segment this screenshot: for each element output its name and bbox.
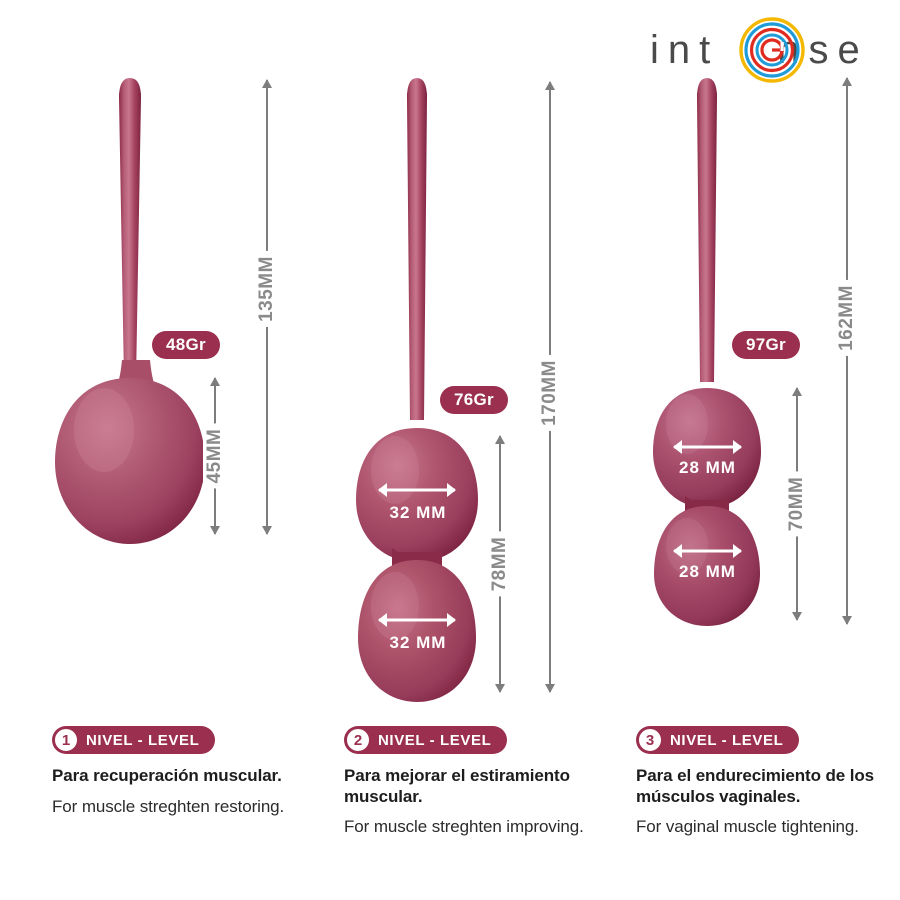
dimension-label-ball-height-level-1: 45MM: [203, 424, 227, 489]
product-column-level-1: 48Gr 45MM 135MM: [0, 0, 300, 720]
level-block-3: 3 NIVEL - LEVEL Para el endurecimiento d…: [636, 726, 900, 838]
dimension-total-length-level-3: 162MM: [832, 78, 862, 624]
arrow-cap-up: [842, 77, 852, 86]
dimension-label-ball-height-level-2: 78MM: [488, 532, 512, 597]
inner-width-label-upper-level-3: 28 MM: [650, 458, 765, 478]
arrow-cap-down: [495, 684, 505, 693]
weight-badge-level-2: 76Gr: [440, 386, 508, 414]
dimension-label-wrap: 45MM: [203, 424, 227, 489]
dimension-total-length-level-2: 170MM: [535, 82, 565, 692]
dimension-label-wrap: 135MM: [255, 251, 279, 327]
weight-badge-level-3: 97Gr: [732, 331, 800, 359]
weight-badge-level-1: 48Gr: [152, 331, 220, 359]
dimension-label-wrap: 162MM: [835, 280, 859, 356]
dimension-label-total-length-level-3: 162MM: [835, 280, 859, 356]
level-block-2: 2 NIVEL - LEVEL Para mejorar el estirami…: [344, 726, 624, 838]
level-number-2: 2: [345, 727, 371, 753]
level-badge-3[interactable]: 3 NIVEL - LEVEL: [636, 726, 799, 754]
arrow-cap-up: [210, 377, 220, 386]
arrow-cap-down: [545, 684, 555, 693]
arrow-cap-up: [262, 79, 272, 88]
arrow-cap-down: [842, 616, 852, 625]
dimension-ball-height-level-2: 78MM: [485, 436, 515, 692]
level-block-1: 1 NIVEL - LEVEL Para recuperación muscul…: [52, 726, 332, 817]
level-number-1: 1: [53, 727, 79, 753]
dimension-label-ball-height-level-3: 70MM: [785, 472, 809, 537]
inner-width-label-lower-level-3: 28 MM: [650, 562, 765, 582]
dimension-ball-height-level-3: 70MM: [782, 388, 812, 620]
dimension-label-total-length-level-2: 170MM: [538, 355, 562, 431]
level-title-en-3: For vaginal muscle tightening.: [636, 816, 900, 837]
arrow-cap-down: [262, 526, 272, 535]
level-title-es-1: Para recuperación muscular.: [52, 766, 332, 787]
level-title-es-2: Para mejorar el estiramiento muscular.: [344, 766, 624, 807]
arrow-cap-down: [210, 526, 220, 535]
level-number-3: 3: [637, 727, 663, 753]
arrow-cap-down: [792, 612, 802, 621]
arrow-cap-up: [792, 387, 802, 396]
level-title-en-2: For muscle streghten improving.: [344, 816, 624, 837]
inner-width-label-upper-level-2: 32 MM: [356, 503, 480, 523]
arrow-cap-up: [495, 435, 505, 444]
level-pill-label-2: NIVEL - LEVEL: [378, 732, 491, 749]
dimension-total-length-level-1: 135MM: [252, 80, 282, 534]
level-pill-label-3: NIVEL - LEVEL: [670, 732, 783, 749]
infographic-canvas: int nse: [0, 0, 900, 900]
level-badge-2[interactable]: 2 NIVEL - LEVEL: [344, 726, 507, 754]
dimension-label-wrap: 78MM: [488, 532, 512, 597]
product-column-level-3: 28 MM 28 MM 97Gr 70MM 162MM: [600, 0, 900, 720]
dimension-label-wrap: 170MM: [538, 355, 562, 431]
inner-width-label-lower-level-2: 32 MM: [356, 633, 480, 653]
level-title-en-1: For muscle streghten restoring.: [52, 796, 332, 817]
dimension-ball-height-level-1: 45MM: [200, 378, 230, 534]
level-title-es-3: Para el endurecimiento de los músculos v…: [636, 766, 900, 807]
product-column-level-2: 32 MM 32 MM 76Gr 78MM 170MM: [300, 0, 600, 720]
level-badge-1[interactable]: 1 NIVEL - LEVEL: [52, 726, 215, 754]
dimension-label-total-length-level-1: 135MM: [255, 251, 279, 327]
dimension-label-wrap: 70MM: [785, 472, 809, 537]
arrow-cap-up: [545, 81, 555, 90]
level-pill-label-1: NIVEL - LEVEL: [86, 732, 199, 749]
